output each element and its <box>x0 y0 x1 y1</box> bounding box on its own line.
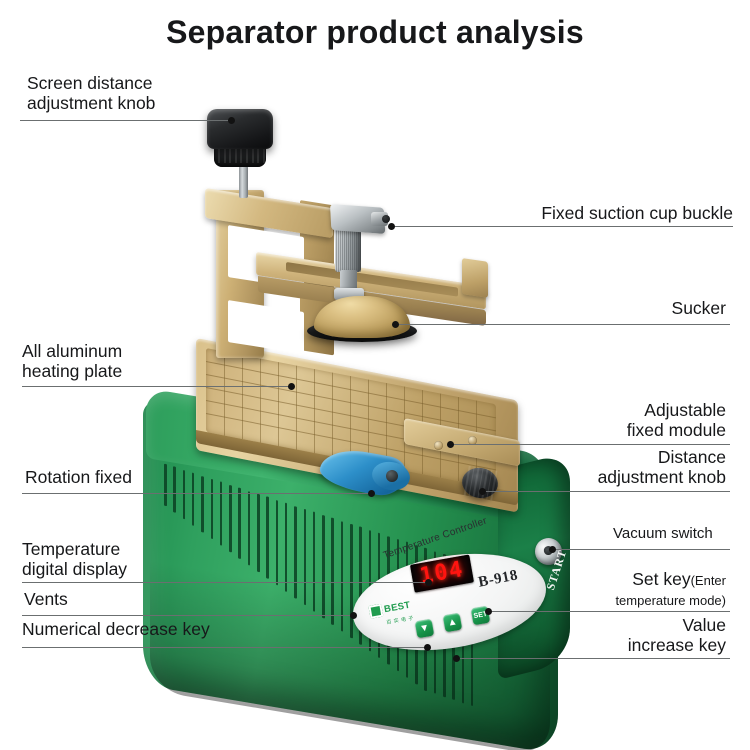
vent-slot <box>164 464 167 506</box>
leader-numerical-decrease-key <box>22 647 426 648</box>
logo-mark-icon <box>368 604 383 619</box>
screen-distance-adjustment-knob[interactable] <box>207 109 273 149</box>
leader-dot <box>368 490 375 497</box>
knurl-line <box>354 226 355 272</box>
label-rotation-fixed: Rotation fixed <box>25 468 132 488</box>
vent-slot <box>276 500 279 586</box>
leader-dot <box>485 608 492 615</box>
knurl-line <box>336 226 337 272</box>
leader-fixed-suction-cup-buckle <box>392 226 733 227</box>
value-increase-key[interactable]: ▲ <box>443 613 463 633</box>
knurl-line <box>338 226 339 272</box>
label-distance-adjustment-knob: Distance adjustment knob <box>496 448 726 487</box>
label-numerical-decrease-key: Numerical decrease key <box>22 620 210 640</box>
knurl-line <box>348 226 349 272</box>
diagram-canvas: Separator product analysis Temperature C… <box>0 0 750 750</box>
vent-slot <box>331 518 334 625</box>
plate-groove <box>260 358 261 442</box>
leader-dot <box>479 488 486 495</box>
vent-slot <box>211 479 214 539</box>
label-fixed-suction-cup-buckle: Fixed suction cup buckle <box>483 204 733 224</box>
numerical-decrease-key[interactable]: ▼ <box>415 619 435 639</box>
vent-slot <box>248 491 251 566</box>
rotation-lever-pivot <box>386 470 398 482</box>
knurl-line <box>340 226 341 272</box>
plate-groove <box>350 376 351 460</box>
knurl-line <box>352 226 353 272</box>
knurl-line <box>358 226 359 272</box>
plate-groove <box>314 369 315 453</box>
vent-slot <box>201 476 204 533</box>
leader-dot <box>392 321 399 328</box>
vent-slot <box>285 503 288 592</box>
plate-groove <box>296 365 297 449</box>
label-set-key: Set key(Enter temperature mode) <box>486 570 726 609</box>
arm-end-block <box>462 258 488 298</box>
leader-dot <box>228 117 235 124</box>
leader-distance-adjustment-knob <box>483 491 730 492</box>
label-screen-distance-knob: Screen distance adjustment knob <box>27 74 155 113</box>
leader-screen-distance-knob <box>20 120 228 121</box>
leader-sucker <box>396 324 730 325</box>
label-temperature-display: Temperature digital display <box>22 540 127 579</box>
leader-dot <box>453 655 460 662</box>
leader-dot <box>388 223 395 230</box>
label-all-aluminum-plate: All aluminum heating plate <box>22 342 122 381</box>
vent-slot <box>173 467 176 513</box>
label-sucker: Sucker <box>526 299 726 319</box>
leader-temperature-display <box>22 582 427 583</box>
plate-groove <box>224 351 225 435</box>
suction-cup-body <box>335 226 361 272</box>
knurl-line <box>350 226 351 272</box>
leader-vacuum-switch <box>553 549 730 550</box>
knob-stem <box>239 166 248 198</box>
leader-dot <box>425 579 432 586</box>
module-screw <box>434 441 443 450</box>
label-vacuum-switch: Vacuum switch <box>613 526 713 543</box>
vent-slot <box>322 515 325 619</box>
vent-slot <box>266 497 269 579</box>
vent-slot <box>304 509 307 605</box>
vent-slot <box>313 512 316 612</box>
leader-vents <box>22 615 352 616</box>
label-vents: Vents <box>24 590 68 610</box>
leader-value-increase-key <box>457 658 730 659</box>
label-value-increase-key: Value increase key <box>516 616 726 655</box>
leader-set-key <box>489 611 730 612</box>
vent-slot <box>183 470 186 520</box>
vent-slot <box>220 482 223 546</box>
vent-slot <box>294 506 297 599</box>
plate-groove <box>278 362 279 446</box>
plate-groove <box>332 372 333 456</box>
buckle-knob[interactable] <box>371 212 388 226</box>
knurl-line <box>346 226 347 272</box>
leader-all-aluminum-plate <box>22 386 290 387</box>
plate-groove <box>386 383 387 467</box>
brand-name: BEST <box>383 600 411 615</box>
leader-dot <box>288 383 295 390</box>
vent-slot <box>238 488 241 559</box>
set-key-text: Set key <box>632 569 690 589</box>
vent-slot <box>192 473 195 526</box>
leader-dot <box>424 644 431 651</box>
label-adjustable-fixed-module: Adjustable fixed module <box>506 401 726 440</box>
knurl-line <box>360 226 361 272</box>
knurl-line <box>344 226 345 272</box>
leader-dot <box>350 612 357 619</box>
leader-dot <box>549 546 556 553</box>
knurl-line <box>356 226 357 272</box>
vent-slot <box>257 494 260 572</box>
leader-adjustable-fixed-module <box>451 444 730 445</box>
leader-dot <box>447 441 454 448</box>
plate-groove <box>242 355 243 439</box>
knurl-line <box>342 226 343 272</box>
vent-slot <box>229 485 232 553</box>
leader-rotation-fixed <box>22 493 370 494</box>
plate-groove <box>368 379 369 463</box>
